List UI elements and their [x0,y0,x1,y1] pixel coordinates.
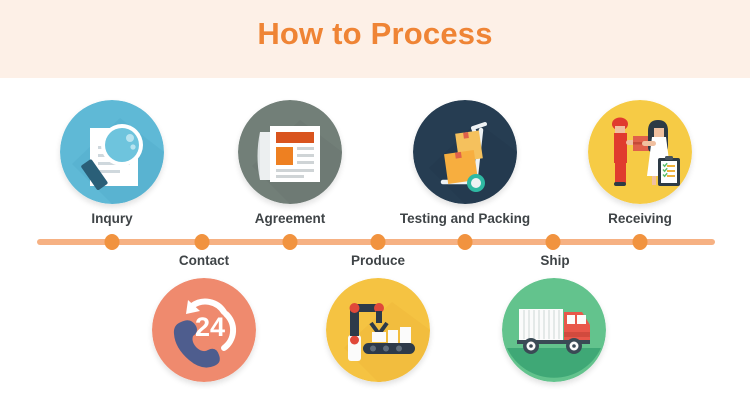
phone-24-hour-icon: 24 [152,278,256,382]
timeline-dot[interactable] [195,234,210,250]
step-contact[interactable]: 24 [129,278,279,382]
page-title: How to Process [0,16,750,52]
delivery-truck-icon [502,278,606,382]
step-testing-and-packing[interactable]: Testing and Packing [390,100,540,226]
document-magnifier-icon [60,100,164,204]
delivery-handoff-icon [588,100,692,204]
process-infographic: How to Process [0,0,750,400]
step-produce[interactable] [303,278,453,382]
step-label: Receiving [565,211,715,226]
step-label-produce: Produce [298,253,458,268]
step-label: Testing and Packing [390,211,540,226]
timeline-dot[interactable] [371,234,386,250]
timeline-dot[interactable] [283,234,298,250]
timeline-dot[interactable] [458,234,473,250]
top-step-row: Inqury [0,100,750,232]
timeline-dot[interactable] [105,234,120,250]
process-timeline [37,234,715,250]
step-receiving[interactable]: Receiving [565,100,715,226]
svg-text:24: 24 [195,312,225,342]
timeline-dot[interactable] [546,234,561,250]
step-label: Agreement [215,211,365,226]
step-ship[interactable] [479,278,629,382]
step-inqury[interactable]: Inqury [37,100,187,226]
step-label: Inqury [37,211,187,226]
newspaper-document-icon [238,100,342,204]
step-label-ship: Ship [475,253,635,268]
timeline-dot[interactable] [633,234,648,250]
hand-truck-boxes-icon [413,100,517,204]
bottom-step-row: 24 [0,278,750,396]
step-label-contact: Contact [124,253,284,268]
step-agreement[interactable]: Agreement [215,100,365,226]
robot-arm-conveyor-icon [326,278,430,382]
